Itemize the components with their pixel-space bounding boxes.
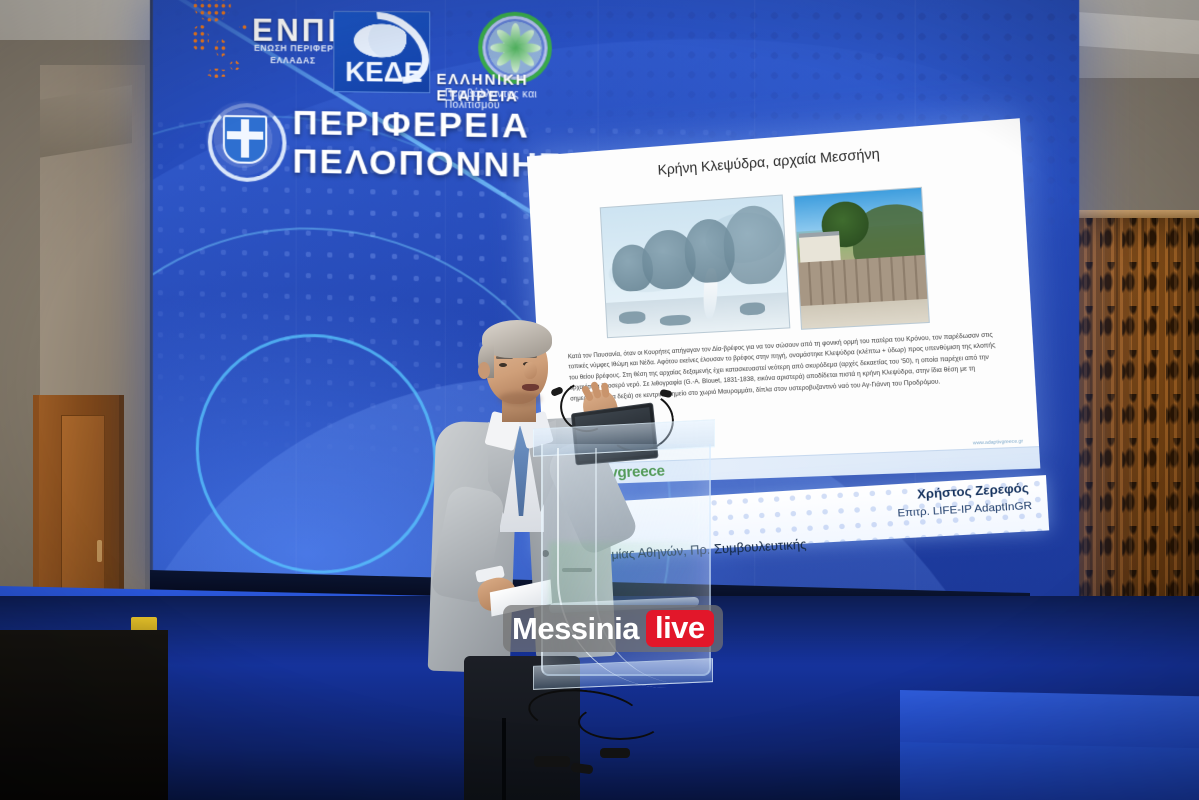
conference-photo-scene: ΕΝΠΕ ΕΝΩΣΗ ΠΕΡΙΦΕΡΕΙΩΝ ΕΛΛΑΔΑΣ ΚΕΔΕ ΕΛΛΗ… [0,0,1199,800]
crest-shield [223,115,267,164]
ear [478,362,490,379]
crest-cross-horizontal [227,131,263,140]
slide-image-right-photo [793,187,930,330]
kede-abbreviation: ΚΕΔΕ [338,57,429,89]
messinia-live-watermark: Messinia live [503,605,723,652]
litho-tree [722,204,787,286]
nose [524,362,537,379]
cable-connector [600,748,630,758]
eye-left [499,363,507,367]
watermark-brand: Messinia [512,613,639,644]
floor-cable [578,704,662,740]
region-title-line1: ΠΕΡΙΦΕΡΕΙΑ [293,104,530,147]
chin-shadow [498,392,542,406]
cable-connector [534,756,570,767]
slide-image-left-lithograph [600,194,791,338]
door-handle[interactable] [97,540,102,562]
mouth [522,384,539,391]
leg-separation [502,718,506,800]
logo-kede: ΚΕΔΕ [333,11,430,93]
dark-floor-area [0,630,168,800]
watermark-live-badge: live [646,610,714,647]
pillar-top-facet [40,85,132,158]
slide-url[interactable]: www.adaptivgreece.gr [973,438,1023,445]
logo-elliniki-etairia: ΕΛΛΗΝΙΚΗ ΕΤΑΙΡΕΙΑ Περιβάλλοντος και Πολι… [436,15,594,105]
enpe-subtitle-line2: ΕΛΛΑΔΑΣ [270,55,315,66]
greek-coat-of-arms-icon [206,101,281,177]
stage-step-lower [900,742,1199,800]
led-left-edge [150,0,153,594]
